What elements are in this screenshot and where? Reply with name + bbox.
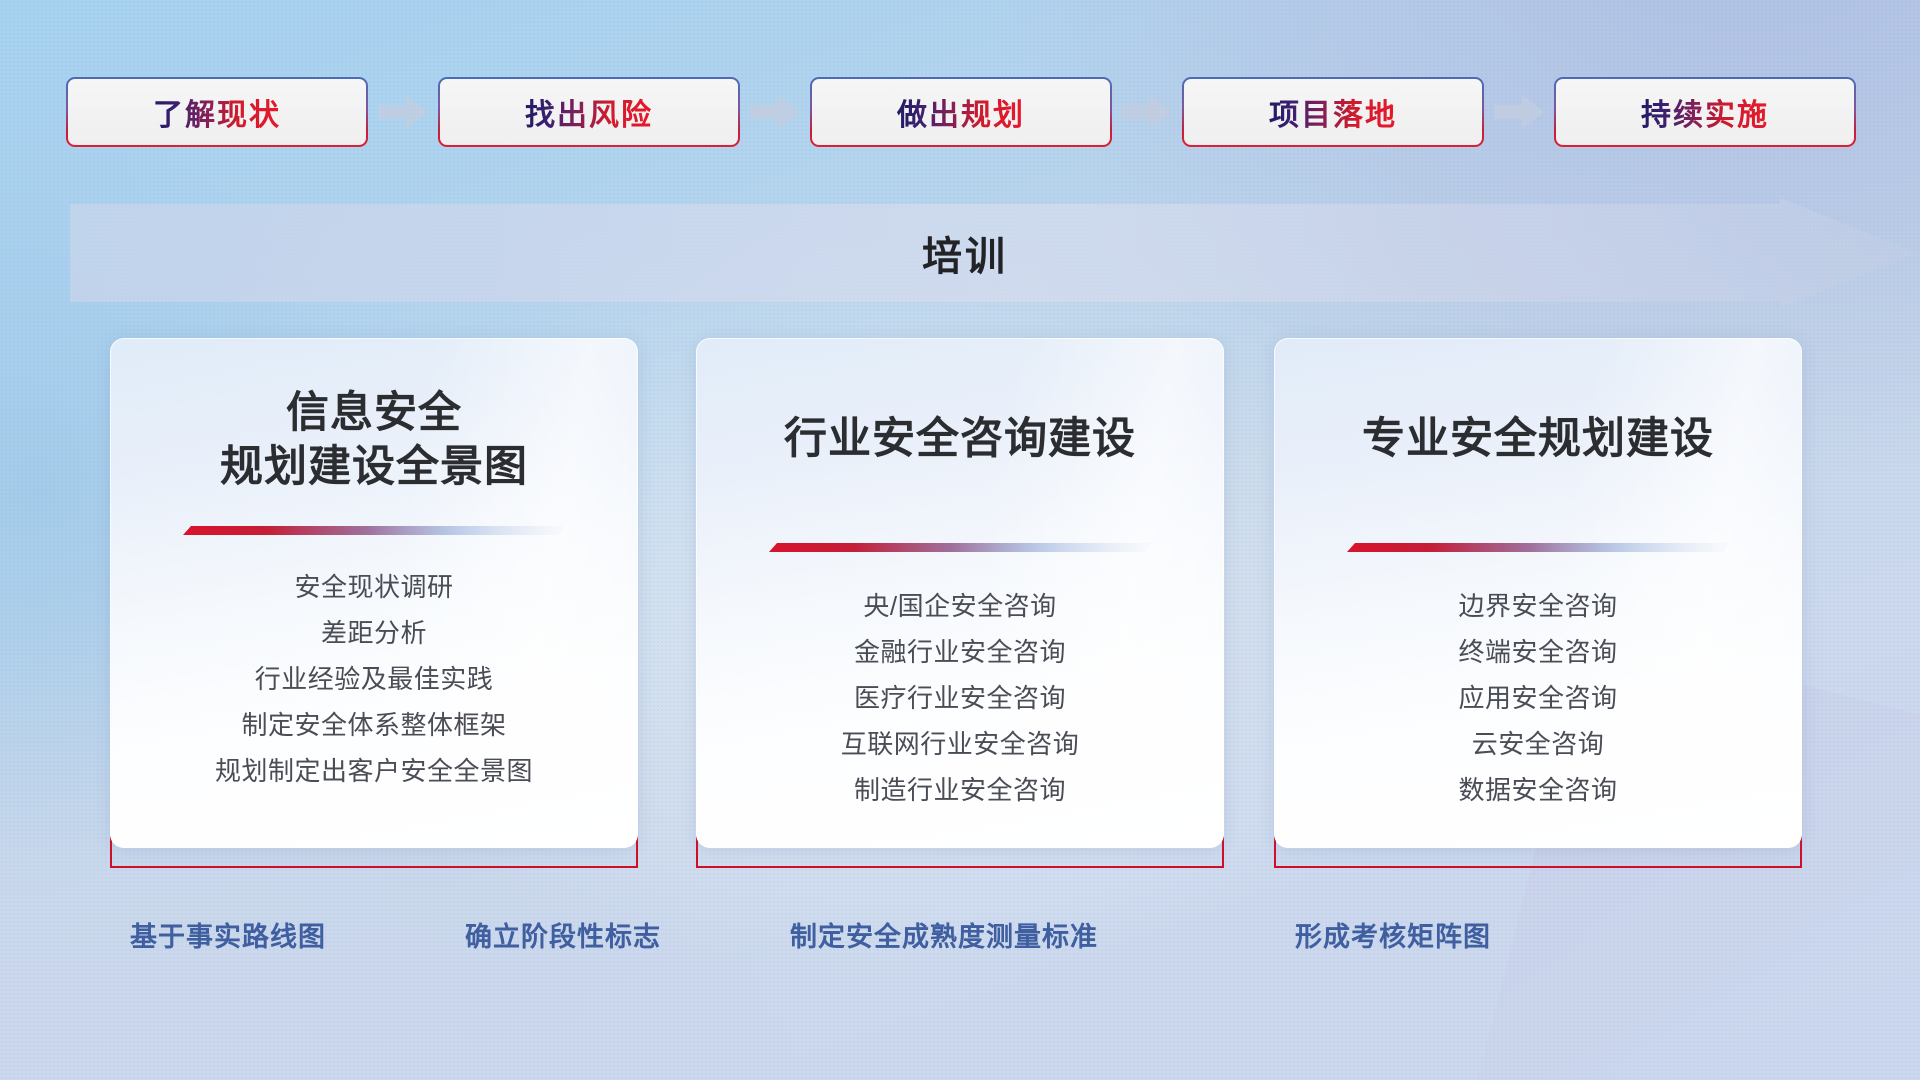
- training-banner: 培训: [70, 198, 1918, 308]
- card-item-list: 央/国企安全咨询 金融行业安全咨询 医疗行业安全咨询 互联网行业安全咨询 制造行…: [696, 583, 1224, 813]
- card-divider-rule: [1347, 541, 1729, 553]
- list-item: 规划制定出客户安全全景图: [110, 748, 638, 794]
- card-body: 专业安全规划建设 边界安全咨询: [1274, 338, 1802, 848]
- list-item: 行业经验及最佳实践: [110, 656, 638, 702]
- list-item: 差距分析: [110, 610, 638, 656]
- list-item: 应用安全咨询: [1274, 675, 1802, 721]
- step-box-1-inner: 了解现状: [68, 79, 366, 145]
- card-body: 行业安全咨询建设 央/国企安全咨询: [696, 338, 1224, 848]
- list-item: 边界安全咨询: [1274, 583, 1802, 629]
- footer-label-assessment-matrix: 形成考核矩阵图: [1295, 915, 1491, 954]
- step-box-1[interactable]: 了解现状: [66, 77, 368, 147]
- arrow-right-icon: [376, 92, 430, 132]
- card-industry-security-consulting[interactable]: 行业安全咨询建设 央/国企安全咨询: [696, 338, 1224, 868]
- step-label-4: 项目落地: [1269, 90, 1397, 134]
- list-item: 央/国企安全咨询: [696, 583, 1224, 629]
- step-label-5: 持续实施: [1641, 90, 1769, 134]
- list-item: 互联网行业安全咨询: [696, 721, 1224, 767]
- step-box-5[interactable]: 持续实施: [1554, 77, 1856, 147]
- card-divider-rule: [183, 524, 565, 536]
- card-divider-rule: [769, 541, 1151, 553]
- step-box-5-inner: 持续实施: [1556, 79, 1854, 145]
- step-label-1: 了解现状: [153, 90, 281, 134]
- step-label-3: 做出规划: [897, 90, 1025, 134]
- step-box-3[interactable]: 做出规划: [810, 77, 1112, 147]
- card-item-list: 安全现状调研 差距分析 行业经验及最佳实践 制定安全体系整体框架 规划制定出客户…: [110, 564, 638, 794]
- list-item: 制定安全体系整体框架: [110, 702, 638, 748]
- arrow-right-icon: [1120, 92, 1174, 132]
- footer-label-row: 基于事实路线图 确立阶段性标志 制定安全成熟度测量标准 形成考核矩阵图: [0, 915, 1920, 963]
- list-item: 医疗行业安全咨询: [696, 675, 1224, 721]
- list-item: 金融行业安全咨询: [696, 629, 1224, 675]
- step-box-4[interactable]: 项目落地: [1182, 77, 1484, 147]
- arrow-right-icon: [748, 92, 802, 132]
- list-item: 云安全咨询: [1274, 721, 1802, 767]
- list-item: 数据安全咨询: [1274, 767, 1802, 813]
- footer-label-roadmap: 基于事实路线图: [130, 915, 326, 954]
- step-box-4-inner: 项目落地: [1184, 79, 1482, 145]
- card-body: 信息安全 规划建设全景图 安全现状调研: [110, 338, 638, 848]
- card-item-list: 边界安全咨询 终端安全咨询 应用安全咨询 云安全咨询 数据安全咨询: [1274, 583, 1802, 813]
- card-title: 专业安全规划建设: [1274, 338, 1802, 466]
- list-item: 终端安全咨询: [1274, 629, 1802, 675]
- step-box-3-inner: 做出规划: [812, 79, 1110, 145]
- list-item: 安全现状调研: [110, 564, 638, 610]
- step-label-2: 找出风险: [525, 90, 653, 134]
- list-item: 制造行业安全咨询: [696, 767, 1224, 813]
- card-title: 信息安全 规划建设全景图: [110, 338, 638, 494]
- card-information-security-blueprint[interactable]: 信息安全 规划建设全景图 安全现状调研: [110, 338, 638, 868]
- footer-label-maturity-standard: 制定安全成熟度测量标准: [790, 915, 1098, 954]
- cards-row: 信息安全 规划建设全景图 安全现状调研: [0, 338, 1920, 868]
- process-step-row: 了解现状 找出风险 做出规划 项目落地 持续实施: [66, 76, 1856, 148]
- card-title: 行业安全咨询建设: [696, 338, 1224, 466]
- card-professional-security-planning[interactable]: 专业安全规划建设 边界安全咨询: [1274, 338, 1802, 868]
- arrow-right-icon: [1492, 92, 1546, 132]
- training-banner-label: 培训: [70, 198, 1860, 308]
- step-box-2[interactable]: 找出风险: [438, 77, 740, 147]
- footer-label-milestones: 确立阶段性标志: [465, 915, 661, 954]
- step-box-2-inner: 找出风险: [440, 79, 738, 145]
